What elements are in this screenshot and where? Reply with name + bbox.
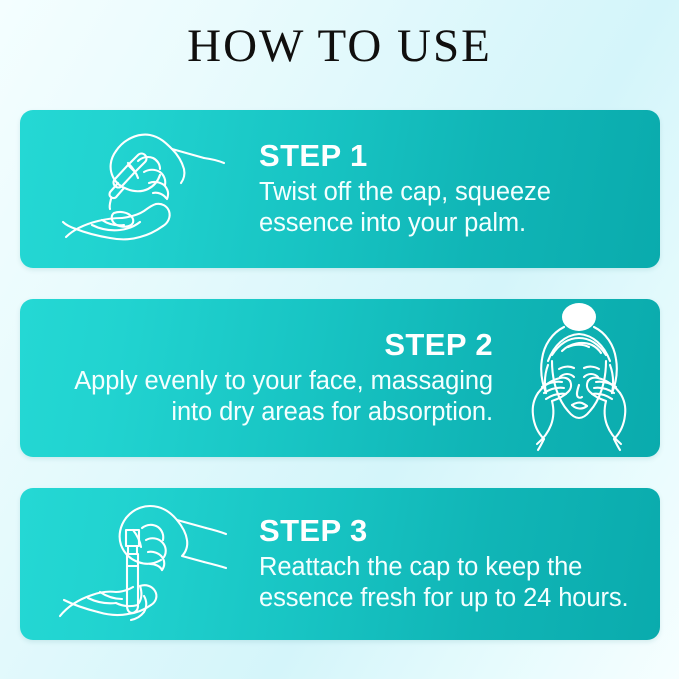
- step-2-description: Apply evenly to your face, massaging int…: [34, 366, 493, 429]
- step-2-label: STEP 2: [34, 328, 493, 363]
- page-title: HOW TO USE: [0, 22, 679, 71]
- step-3-label: STEP 3: [259, 514, 646, 549]
- hand-dropper-into-palm-icon: [54, 125, 230, 253]
- woman-massaging-face-icon: [502, 301, 652, 455]
- step-card-2: STEP 2 Apply evenly to your face, massag…: [20, 299, 660, 457]
- step-3-text: STEP 3 Reattach the cap to keep the esse…: [259, 514, 646, 614]
- step-3-description: Reattach the cap to keep the essence fre…: [259, 552, 646, 615]
- page-title-container: HOW TO USE: [0, 22, 679, 71]
- hands-reattaching-cap-icon: [54, 500, 230, 628]
- infographic-page: HOW TO USE: [0, 0, 679, 679]
- step-2-text: STEP 2 Apply evenly to your face, massag…: [34, 328, 493, 428]
- step-card-1: STEP 1 Twist off the cap, squeeze essenc…: [20, 110, 660, 268]
- step-1-text: STEP 1 Twist off the cap, squeeze essenc…: [259, 139, 646, 239]
- step-1-description: Twist off the cap, squeeze essence into …: [259, 177, 646, 240]
- step-1-label: STEP 1: [259, 139, 646, 174]
- step-card-3: STEP 3 Reattach the cap to keep the esse…: [20, 488, 660, 640]
